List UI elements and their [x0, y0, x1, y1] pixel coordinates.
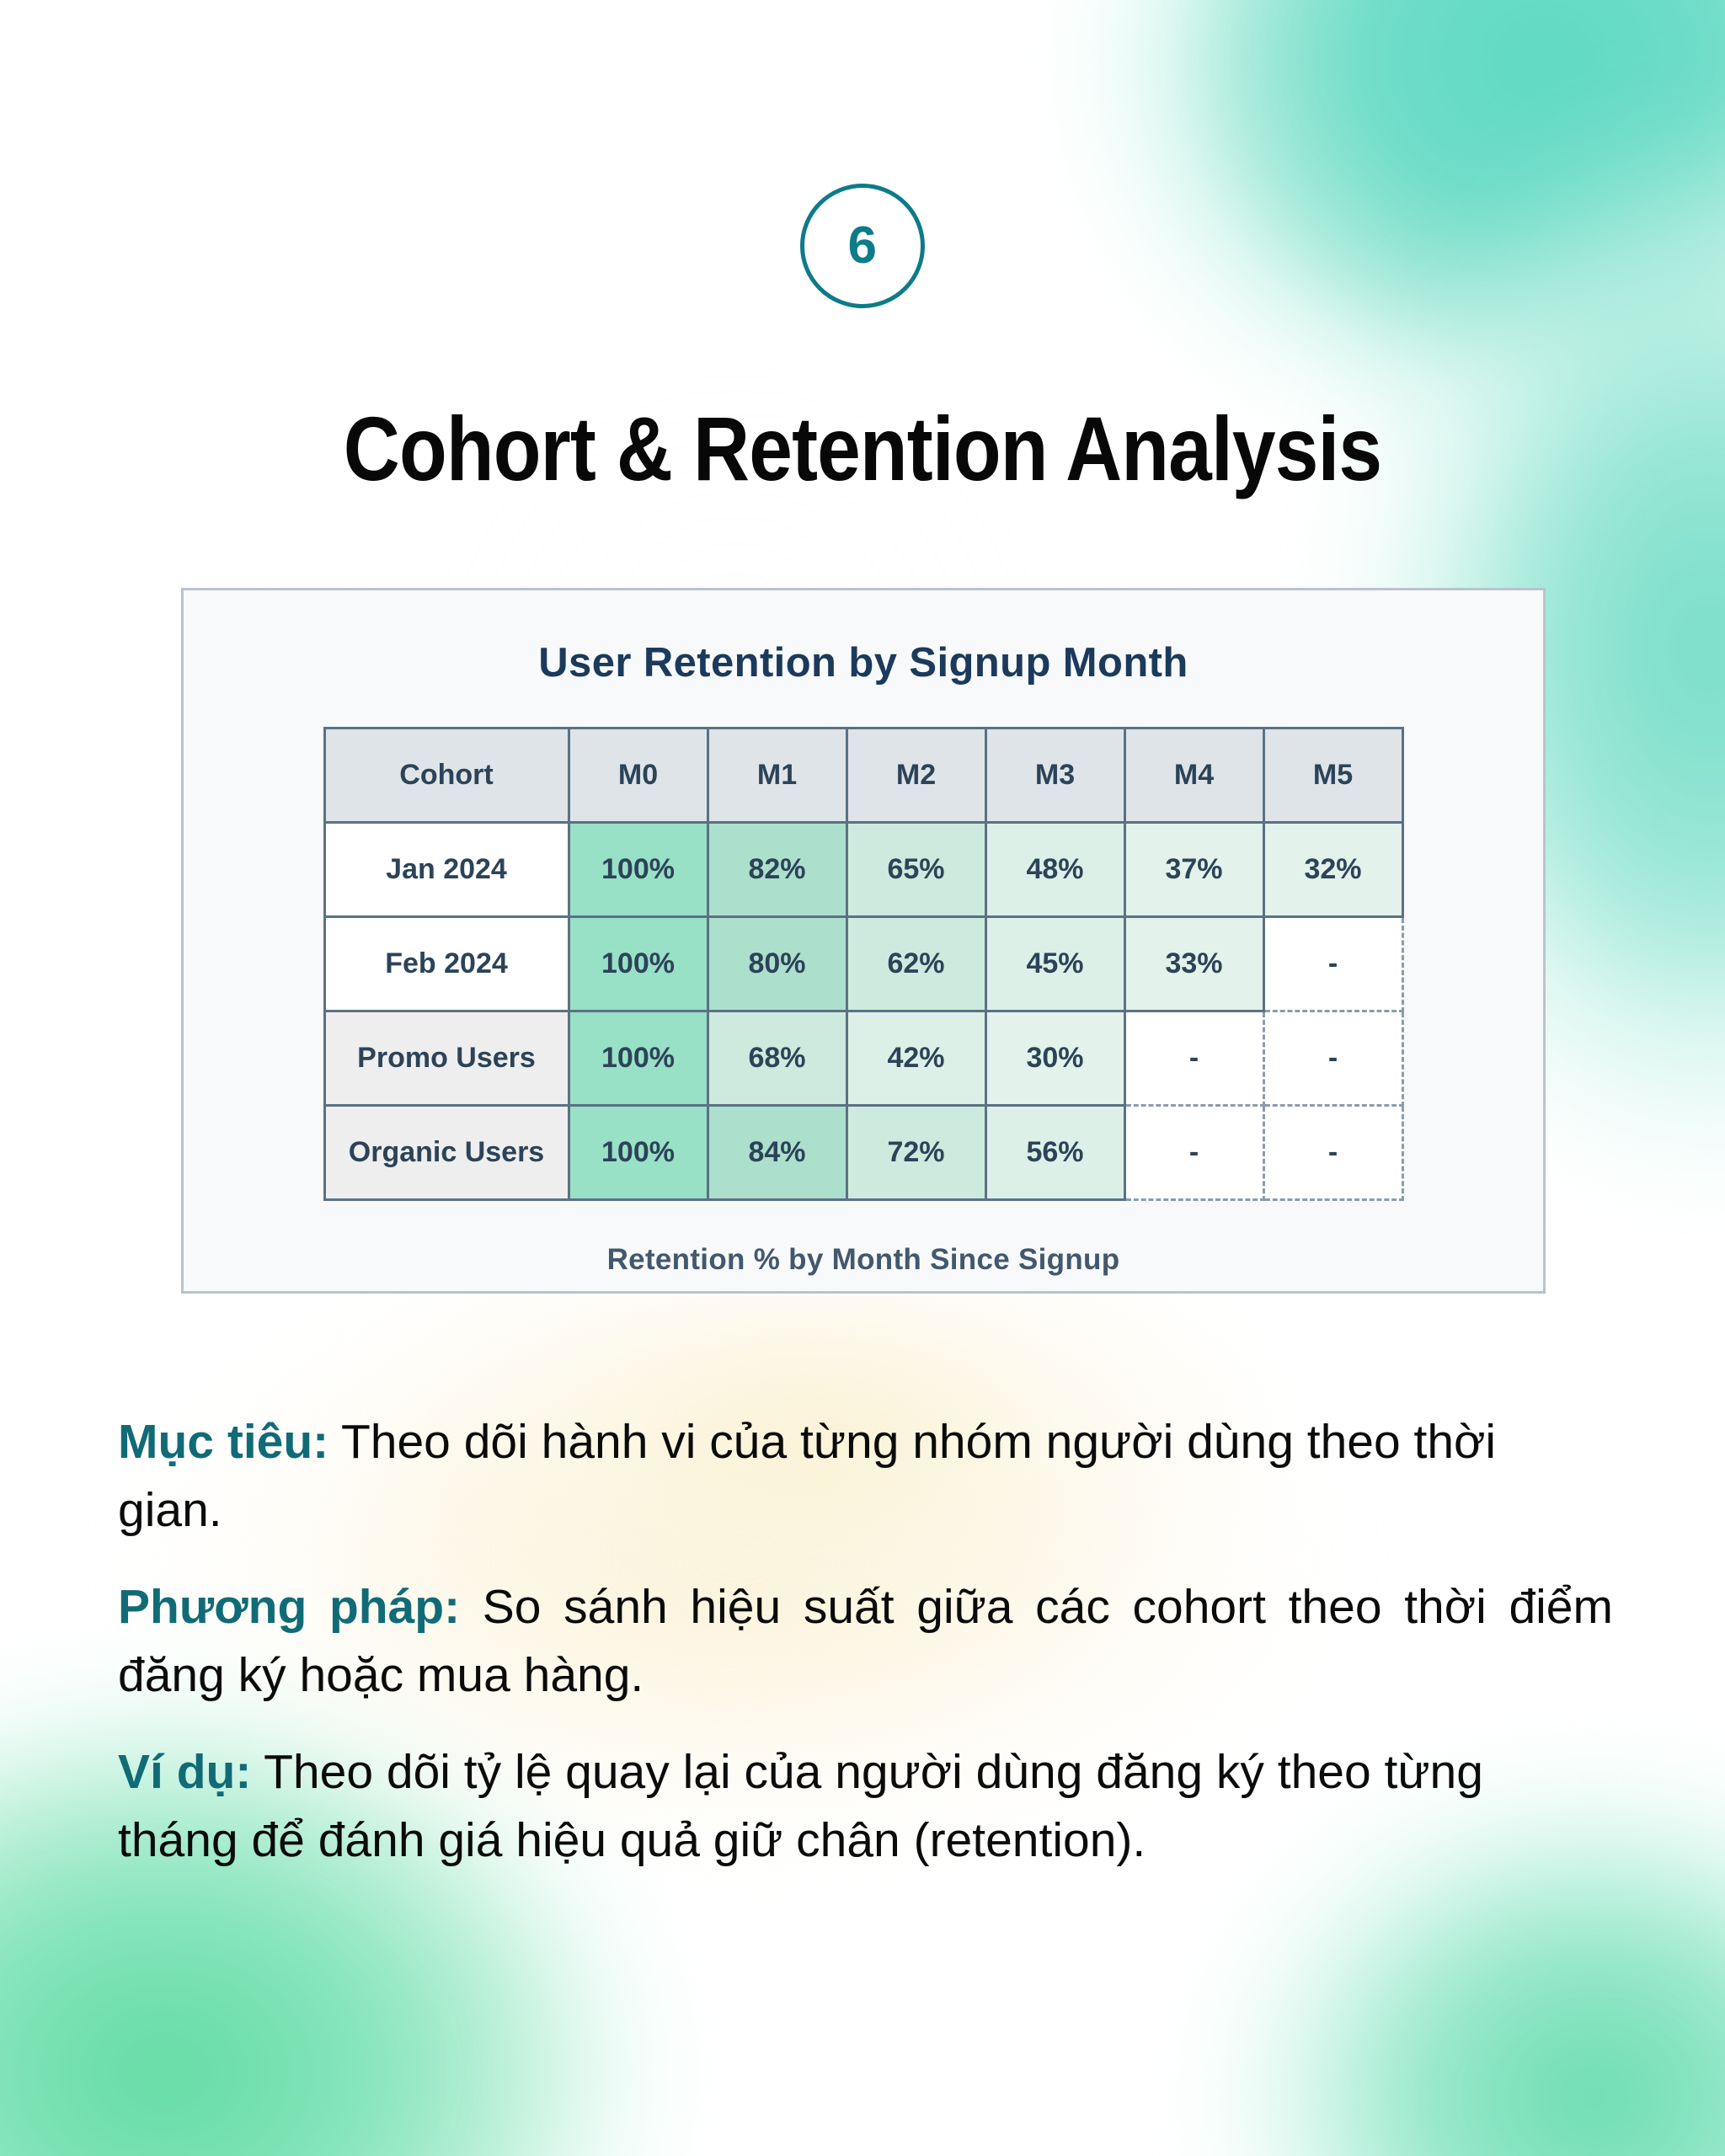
retention-chart-card: User Retention by Signup Month Cohort M0… [181, 588, 1546, 1294]
retention-cell: 100% [569, 1011, 708, 1106]
retention-cell: 33% [1124, 917, 1263, 1011]
retention-cell: 68% [708, 1011, 846, 1106]
retention-cell-empty: - [1124, 1011, 1263, 1106]
chart-title: User Retention by Signup Month [184, 639, 1543, 686]
retention-cell: 82% [708, 823, 846, 917]
table-row: Organic Users100%84%72%56%-- [324, 1106, 1402, 1200]
paragraph-text: Theo dõi tỷ lệ quay lại của người dùng đ… [118, 1745, 1483, 1867]
step-number-label: 6 [848, 220, 878, 272]
retention-table: Cohort M0 M1 M2 M3 M4 M5 Jan 2024100%82%… [323, 727, 1404, 1201]
table-row: Feb 2024100%80%62%45%33%- [324, 917, 1402, 1011]
column-header-m2: M2 [846, 728, 985, 823]
row-label-cohort: Feb 2024 [324, 917, 569, 1011]
row-label-cohort: Organic Users [324, 1106, 569, 1200]
retention-cell: 37% [1124, 823, 1263, 917]
column-header-m1: M1 [708, 728, 846, 823]
table-row: Promo Users100%68%42%30%-- [324, 1011, 1402, 1106]
column-header-m0: M0 [569, 728, 708, 823]
paragraph-label: Ví dụ: [118, 1745, 251, 1799]
body-paragraph: Phương pháp: So sánh hiệu suất giữa các … [118, 1573, 1613, 1710]
retention-cell: 65% [846, 823, 985, 917]
retention-cell-empty: - [1263, 1011, 1402, 1106]
retention-cell: 45% [985, 917, 1124, 1011]
body-paragraph: Ví dụ: Theo dõi tỷ lệ quay lại của người… [118, 1738, 1613, 1875]
retention-cell: 100% [569, 917, 708, 1011]
retention-cell-empty: - [1263, 1106, 1402, 1200]
retention-table-body: Jan 2024100%82%65%48%37%32%Feb 2024100%8… [324, 823, 1402, 1200]
table-row: Jan 2024100%82%65%48%37%32% [324, 823, 1402, 917]
retention-cell: 56% [985, 1106, 1124, 1200]
paragraph-label: Mục tiêu: [118, 1415, 328, 1469]
slide-page: 6 Cohort & Retention Analysis User Reten… [0, 0, 1725, 2156]
column-header-m3: M3 [985, 728, 1124, 823]
paragraph-label: Phương pháp: [118, 1580, 460, 1634]
page-title: Cohort & Retention Analysis [120, 396, 1604, 501]
body-paragraph: Mục tiêu: Theo dõi hành vi của từng nhóm… [118, 1408, 1613, 1545]
retention-cell: 84% [708, 1106, 846, 1200]
retention-cell: 80% [708, 917, 846, 1011]
column-header-m5: M5 [1263, 728, 1402, 823]
retention-cell-empty: - [1263, 917, 1402, 1011]
retention-cell: 100% [569, 1106, 708, 1200]
table-header-row: Cohort M0 M1 M2 M3 M4 M5 [324, 728, 1402, 823]
retention-cell: 32% [1263, 823, 1402, 917]
column-header-m4: M4 [1124, 728, 1263, 823]
column-header-cohort: Cohort [324, 728, 569, 823]
step-number-badge: 6 [800, 184, 925, 308]
chart-caption: Retention % by Month Since Signup [184, 1243, 1543, 1277]
retention-cell: 30% [985, 1011, 1124, 1106]
body-copy: Mục tiêu: Theo dõi hành vi của từng nhóm… [118, 1408, 1613, 1903]
retention-cell: 72% [846, 1106, 985, 1200]
row-label-cohort: Jan 2024 [324, 823, 569, 917]
retention-cell-empty: - [1124, 1106, 1263, 1200]
retention-cell: 42% [846, 1011, 985, 1106]
retention-cell: 100% [569, 823, 708, 917]
retention-cell: 48% [985, 823, 1124, 917]
row-label-cohort: Promo Users [324, 1011, 569, 1106]
retention-cell: 62% [846, 917, 985, 1011]
